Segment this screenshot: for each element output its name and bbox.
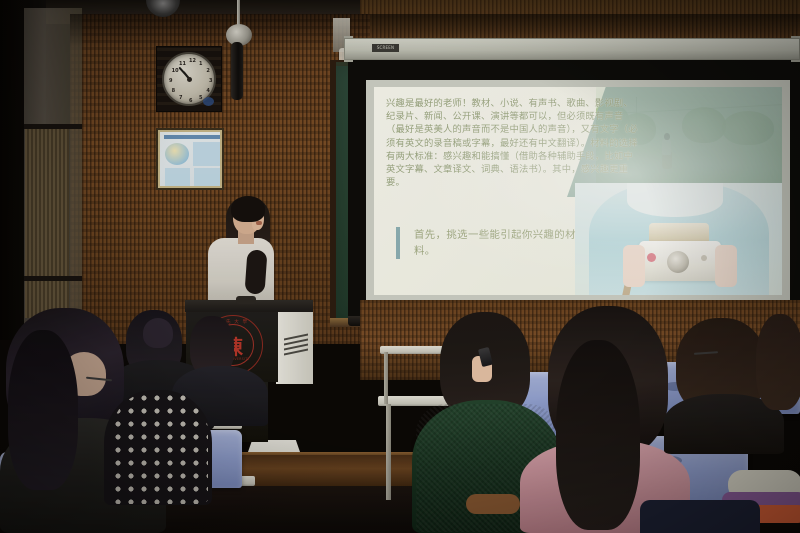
speaker-hair-front [231, 196, 265, 222]
desk-leg [384, 352, 388, 404]
clock-numeral: 9 [169, 78, 172, 84]
clock-numeral: 1 [199, 61, 202, 67]
speaker-hair-strand [244, 249, 267, 294]
clock-numeral: 11 [179, 61, 186, 67]
leather-bag [466, 494, 520, 514]
clock-numeral: 2 [206, 68, 209, 74]
clock-numeral: 6 [189, 98, 192, 104]
notice-board [156, 128, 224, 190]
clock-numeral: 12 [189, 58, 196, 64]
clock-badge [203, 97, 214, 106]
notice-box-3 [194, 168, 220, 186]
notice-graphic [165, 143, 189, 165]
clock-numeral: 3 [209, 78, 212, 84]
slide: 兴趣是最好的老师！教材、小说、有声书、歌曲、影视剧、纪录片、新闻、公开课、演讲等… [374, 87, 782, 295]
audience-hair [8, 330, 78, 490]
audience-dark-coat [640, 500, 760, 533]
podium-microphone [236, 296, 256, 304]
slide-body-text: 兴趣是最好的老师！教材、小说、有声书、歌曲、影视剧、纪录片、新闻、公开课、演讲等… [386, 97, 638, 189]
hanging-spotlight-icon [231, 42, 243, 100]
audience-hair [556, 340, 640, 530]
pillar-slat-panel [25, 128, 69, 318]
audience-cap [143, 318, 173, 348]
camera-top [649, 223, 709, 243]
lecture-hall-photo: 121234567891011 SCREEN [0, 0, 800, 533]
camera-sensor-dot [701, 255, 707, 261]
speaker-mouth [256, 221, 262, 225]
podium-vent-group [284, 336, 308, 352]
screen-housing-label: SCREEN [372, 44, 399, 52]
pillar-band-top [24, 124, 82, 129]
clock-numeral: 8 [172, 88, 175, 94]
notice-title-bar [164, 135, 220, 139]
clock-hub [187, 77, 192, 82]
clock-numeral: 7 [179, 95, 182, 101]
projection-screen: 兴趣是最好的老师！教材、小说、有声书、歌曲、影视剧、纪录片、新闻、公开课、演讲等… [366, 80, 790, 302]
notice-board-content [160, 132, 220, 186]
camera-lens-icon [667, 251, 689, 273]
photo-hand-left [623, 245, 645, 287]
notice-box-1 [193, 142, 220, 166]
polkadot-pattern [112, 392, 208, 504]
slide-callout: 首先，挑选一些能引起你兴趣的材料。 [396, 227, 596, 259]
clock-numeral: 5 [199, 95, 202, 101]
clock-numeral: 10 [172, 68, 179, 74]
photo-collar [627, 183, 723, 217]
slide-photo-camera [575, 183, 782, 295]
camera-shutter-button [647, 253, 656, 262]
desk-leg [386, 404, 391, 500]
pillar-band-bottom [24, 276, 82, 281]
photo-hand-right [715, 245, 737, 287]
screen-housing [344, 38, 800, 60]
clock-numeral: 4 [206, 88, 209, 94]
notice-box-2 [165, 168, 190, 186]
audience-head [756, 314, 800, 410]
